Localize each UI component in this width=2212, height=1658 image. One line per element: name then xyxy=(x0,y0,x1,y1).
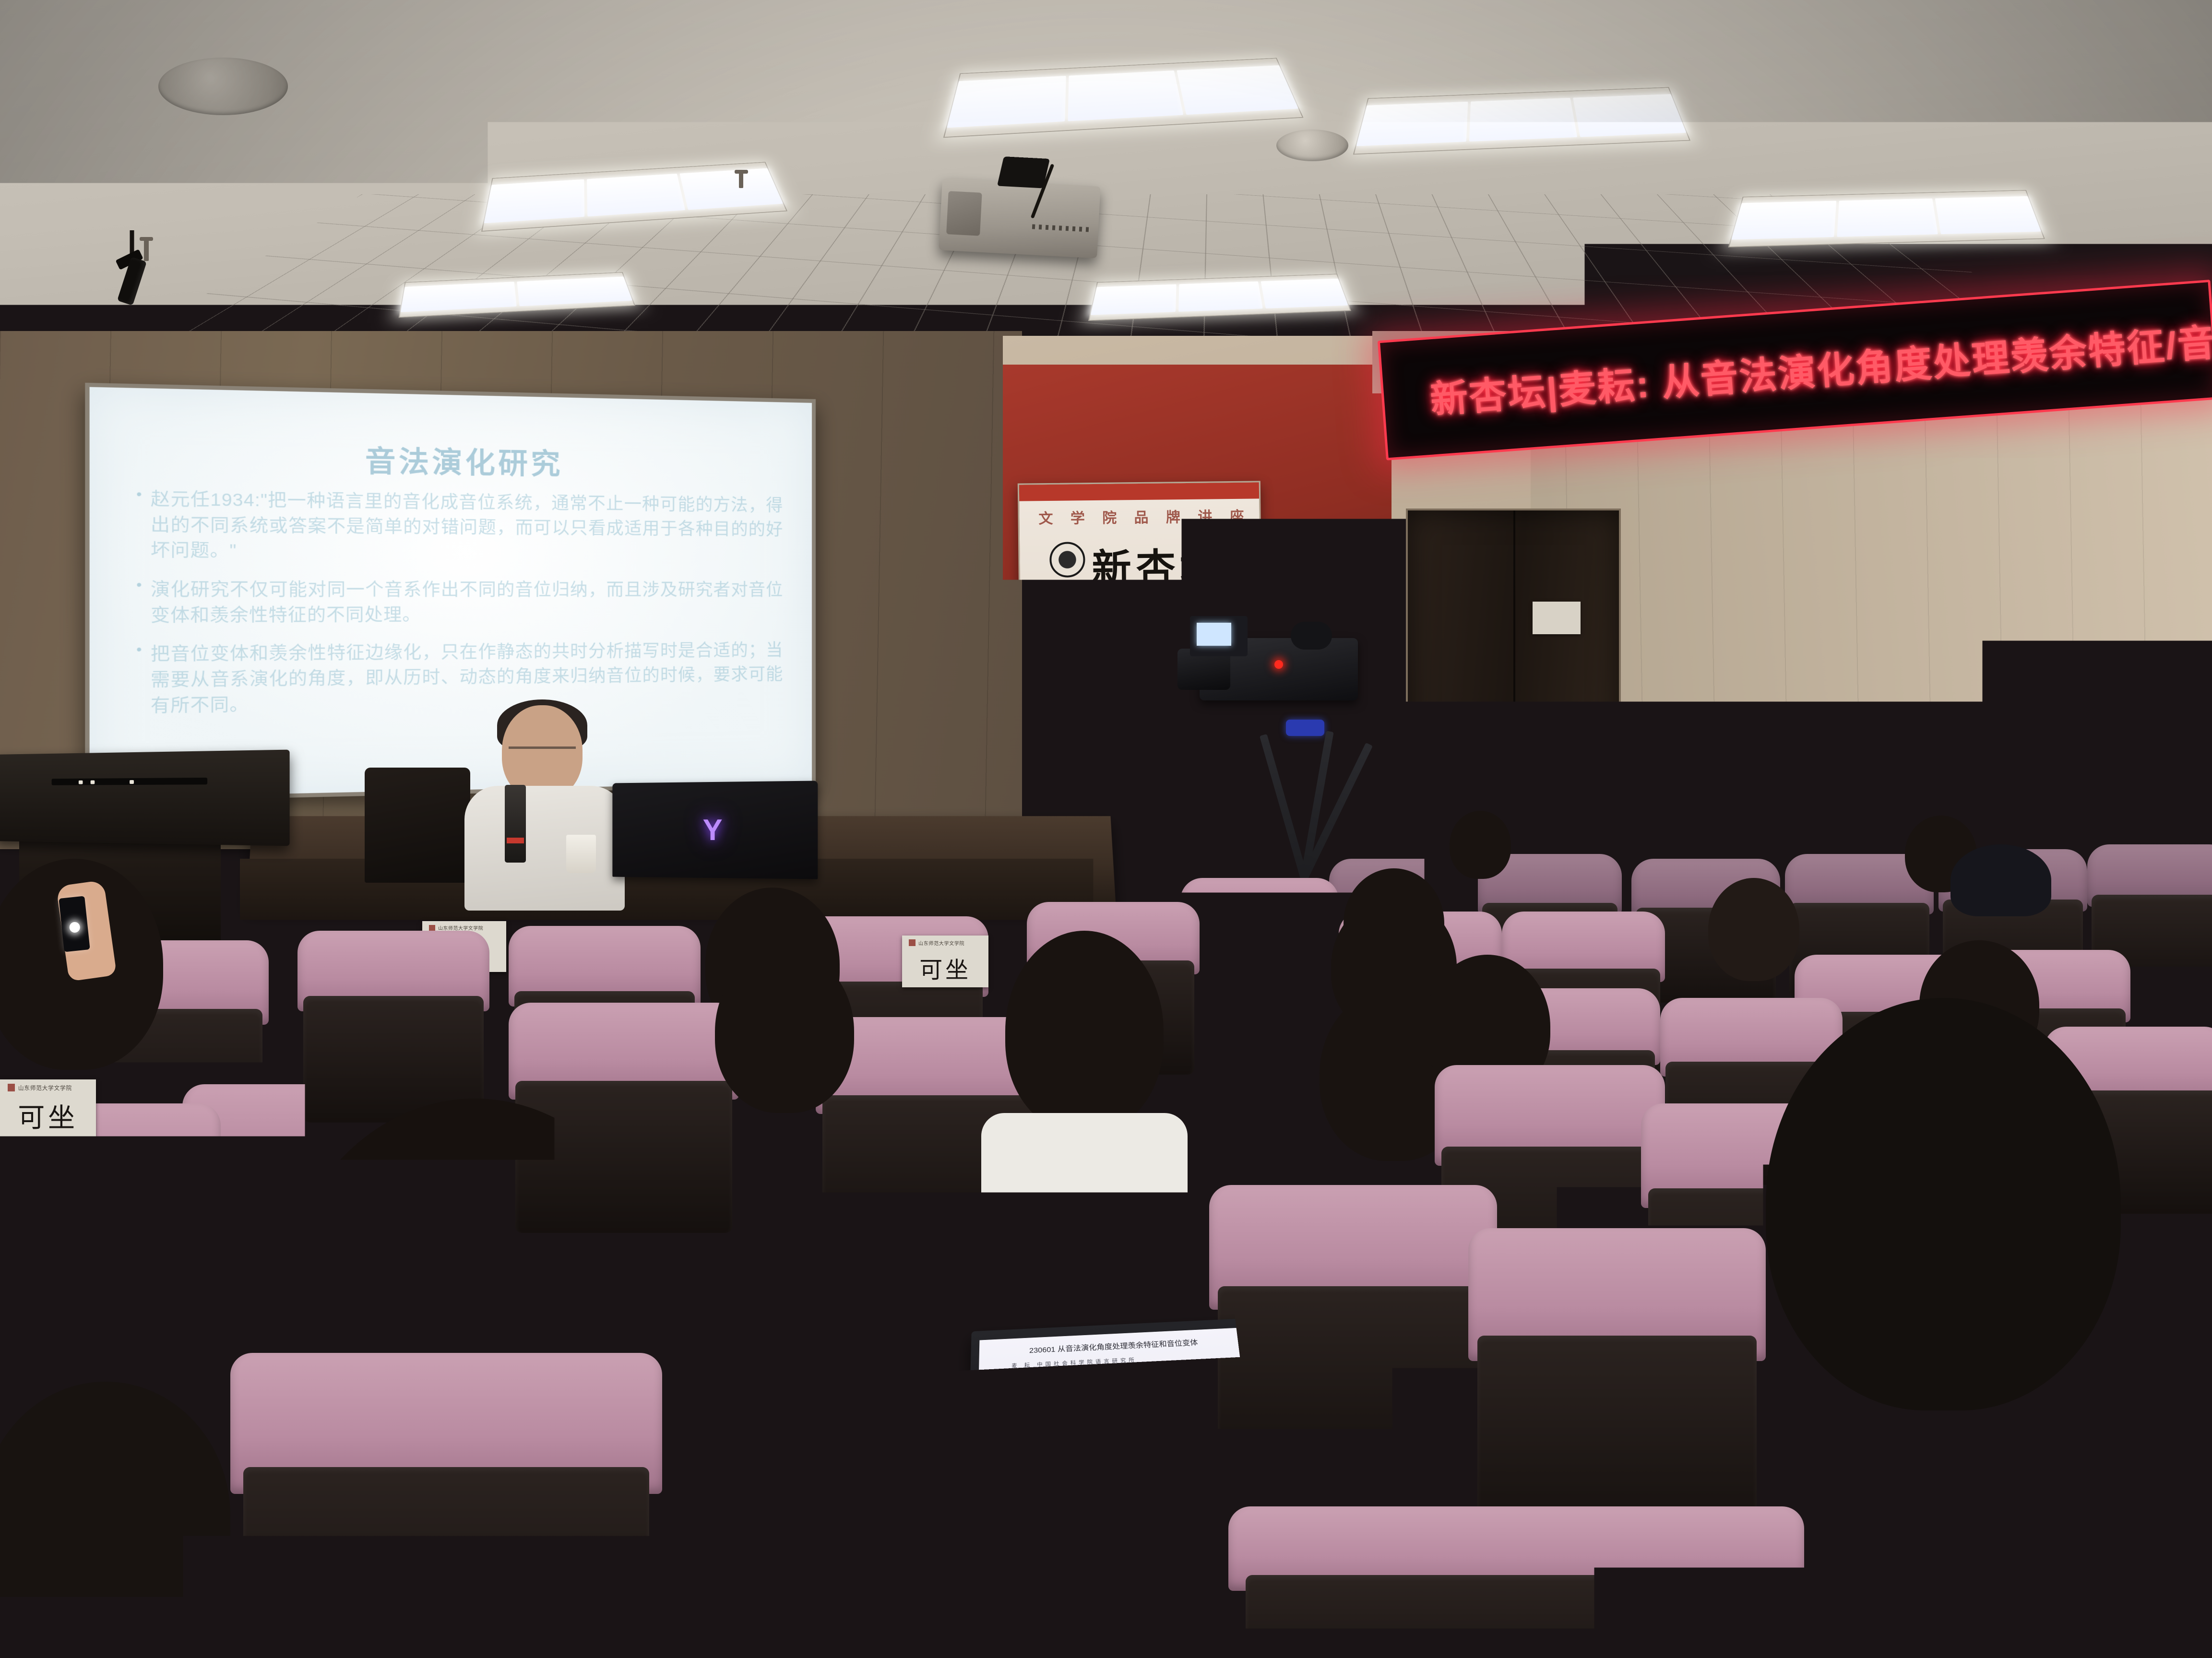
camcorder-lcd-screen xyxy=(1190,616,1248,656)
seat-card-header: 山东师范大学文学院 xyxy=(909,939,981,947)
ceiling-light-3 xyxy=(1353,87,1690,155)
audience-person xyxy=(998,931,1171,1199)
audience-person xyxy=(1444,811,1516,892)
bullet-dot-icon: • xyxy=(136,577,142,628)
seat[interactable] xyxy=(0,1103,221,1372)
poster-bio-label: 主讲人简介： xyxy=(1041,735,1095,746)
person-head xyxy=(1708,878,1799,981)
poster-speaker-affil: 研究员 xyxy=(1115,693,1142,704)
podium-indicator-light xyxy=(130,780,134,784)
poster-host-label: 主持人： xyxy=(1041,715,1077,726)
sprinkler-head-1 xyxy=(144,240,149,261)
slide-bullet-1: • 赵元任1934:"把一种语言里的音化成音位系统，通常不止一种可能的方法，得出… xyxy=(136,486,783,566)
projection-screen: 音法演化研究 • 赵元任1934:"把一种语言里的音化成音位系统，通常不止一种可… xyxy=(90,387,812,798)
seat-card-text: 可坐 xyxy=(919,951,971,984)
presenter-person xyxy=(461,705,629,907)
laptop-brand-logo-icon: Y xyxy=(702,816,722,845)
poster-speaker-name: 麦 耘 xyxy=(1080,691,1113,705)
presenter-shirt xyxy=(464,786,625,911)
camcorder-microphone xyxy=(1291,622,1332,650)
camcorder-record-indicator xyxy=(1274,660,1283,669)
slide-bullet-list: • 赵元任1934:"把一种语言里的音化成音位系统，通常不止一种可能的方法，得出… xyxy=(136,486,783,733)
paper-cup xyxy=(566,835,596,873)
slide-bullet-text-2: 演化研究不仅可能对同一个音系作出不同的音位归纳，而且涉及研究者对音位变体和羡余性… xyxy=(151,577,783,628)
ceiling-projector xyxy=(939,178,1100,258)
presenter-chair xyxy=(365,768,470,883)
ceiling-light-4 xyxy=(1728,190,2045,248)
bullet-dot-icon: • xyxy=(136,642,142,719)
poster-seal-icon xyxy=(1049,542,1085,578)
poster-host-affil: 教授 xyxy=(1124,715,1142,725)
person-shoulders xyxy=(981,1113,1188,1219)
av-podium xyxy=(0,750,290,846)
wall-label-pink xyxy=(1656,746,1693,782)
wall-switch-plate xyxy=(1665,720,1679,739)
slide-bullet-2: • 演化研究不仅可能对同一个音系作出不同的音位归纳，而且涉及研究者对音位变体和羡… xyxy=(136,577,783,628)
marker-pen xyxy=(505,785,526,863)
audience-person-with-cap xyxy=(1948,844,2054,945)
smoke-detector-2 xyxy=(1276,130,1348,161)
poster-row-bio-label: 主讲人简介： xyxy=(1041,733,1095,746)
seat[interactable] xyxy=(1468,1228,1766,1545)
slide-bullet-3: • 把音位变体和羡余性特征边缘化，只在作静态的共时分析描写时是合适的；当需要从音… xyxy=(136,639,783,719)
door-notice-sign xyxy=(1533,602,1581,634)
person-head xyxy=(1450,811,1511,879)
person-head xyxy=(1766,998,2121,1410)
bullet-dot-icon: • xyxy=(136,486,142,564)
presenter-glasses xyxy=(509,746,576,759)
presenter-laptop: Y xyxy=(612,781,818,879)
person-head xyxy=(0,1382,230,1650)
seat-card: 山东师范大学文学院 可坐 xyxy=(902,936,988,987)
smartphone[interactable] xyxy=(59,896,90,952)
poster-title: 新杏坛 xyxy=(1092,535,1225,594)
person-head xyxy=(715,950,854,1113)
poster-issue-number: 第 28 期 xyxy=(1216,525,1244,537)
projection-screen-frame: 音法演化研究 • 赵元任1934:"把一种语言里的音化成音位系统，通常不止一种可… xyxy=(85,383,816,802)
seat[interactable] xyxy=(1228,1506,1804,1658)
seat-back-panel xyxy=(7,1195,214,1372)
sprinkler-head-3 xyxy=(739,173,743,188)
seat-back-panel xyxy=(1185,932,1334,1036)
projector-mount xyxy=(997,156,1050,188)
seat-card-org: 山东师范大学文学院 xyxy=(918,939,964,947)
person-head xyxy=(278,1099,672,1550)
person-head xyxy=(1005,931,1164,1132)
person-head xyxy=(960,1228,1209,1526)
audience-person xyxy=(710,950,859,1151)
video-camcorder xyxy=(1180,619,1372,710)
seat-back-panel xyxy=(1246,1575,1787,1658)
poster-speaker-label: 主讲人： xyxy=(1040,694,1077,704)
projector-vents xyxy=(1032,224,1090,232)
poster-bio-text: 麦耘，中国社会科学院语言研究所研究员、博士生导师，《方言》副主编。主要研究方向为… xyxy=(1049,751,1241,792)
person-cap-icon xyxy=(1950,844,2051,916)
audience-person-foreground xyxy=(0,1382,240,1658)
ceiling-light-1 xyxy=(943,58,1304,138)
podium-indicator-light xyxy=(91,781,95,784)
poster-row-host: 主持人： 张树铮 教授 xyxy=(1041,709,1142,727)
seat-card-seal-icon xyxy=(909,939,916,946)
audience-person-foreground xyxy=(269,1099,681,1658)
smoke-detector-1 xyxy=(158,58,288,115)
podium-indicator-light xyxy=(79,781,83,784)
slide-bullet-text-1: 赵元任1934:"把一种语言里的音化成音位系统，通常不止一种可能的方法，得出的不… xyxy=(151,486,783,566)
poster-header: 文 学 院 品 牌 讲 座 xyxy=(1038,505,1250,528)
audience-person xyxy=(1703,878,1804,1007)
poster-host-name: 张树铮 xyxy=(1080,712,1121,726)
audience-person-foreground xyxy=(1756,998,2130,1478)
tripod-collar xyxy=(1286,720,1324,736)
poster-row-speaker: 主讲人： 麦 耘 研究员 xyxy=(1040,687,1142,706)
lecture-hall-photo: 新杏坛|麦耘: 从音法演化角度处理羡余特征/音位变体 文 学 院 品 牌 讲 座… xyxy=(0,0,2212,1658)
poster-top-band xyxy=(1019,482,1259,501)
wall-label-white xyxy=(1631,715,1648,737)
audience-person-foreground xyxy=(950,1228,1219,1658)
projector-lens xyxy=(946,191,982,236)
